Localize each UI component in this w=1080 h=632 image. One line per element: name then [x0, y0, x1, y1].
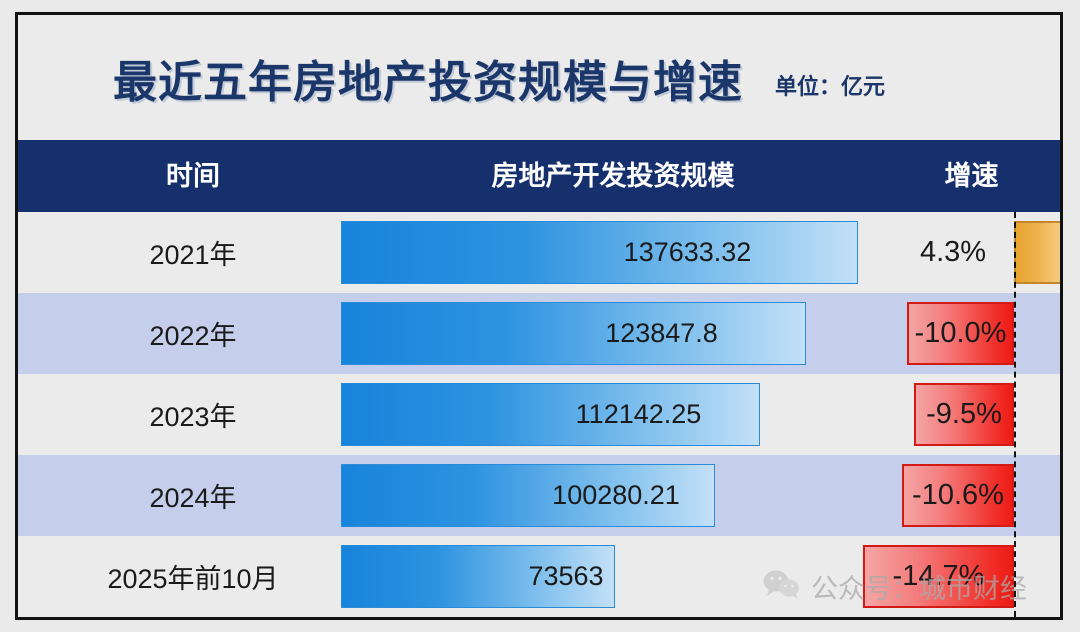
cell-time: 2022年 — [58, 293, 328, 374]
growth-value: 4.3% — [898, 212, 1008, 293]
growth-value: -10.6% — [912, 479, 1004, 512]
table-row: 2023年112142.25-9.5% — [18, 374, 1060, 455]
growth-bar-negative: -14.7% — [863, 545, 1014, 608]
scale-value: 137633.32 — [624, 237, 752, 268]
title-band: 最近五年房地产投资规模与增速 单位：亿元 — [18, 15, 1060, 140]
growth-bar-negative: -9.5% — [914, 383, 1014, 446]
chart-frame: 最近五年房地产投资规模与增速 单位：亿元 时间 房地产开发投资规模 增速 202… — [15, 12, 1063, 620]
table-body: 2021年137633.324.3%2022年123847.8-10.0%202… — [18, 212, 1060, 617]
growth-bar-negative: -10.0% — [907, 302, 1014, 365]
scale-bar: 123847.8 — [341, 302, 806, 365]
scale-bar: 100280.21 — [341, 464, 715, 527]
growth-value: -14.7% — [893, 560, 985, 593]
table-row: 2021年137633.324.3% — [18, 212, 1060, 293]
column-header-scale: 房地产开发投资规模 — [348, 140, 878, 212]
cell-time: 2023年 — [58, 374, 328, 455]
growth-value: -9.5% — [926, 398, 1002, 431]
column-header-time: 时间 — [78, 140, 308, 212]
scale-bar: 73563 — [341, 545, 615, 608]
growth-bar-negative: -10.6% — [902, 464, 1014, 527]
scale-value: 112142.25 — [576, 399, 702, 430]
scale-value: 123847.8 — [605, 318, 718, 349]
growth-value: -10.0% — [915, 317, 1007, 350]
scale-bar: 137633.32 — [341, 221, 858, 284]
cell-time: 2024年 — [58, 455, 328, 536]
table-header-row: 时间 房地产开发投资规模 增速 — [18, 140, 1060, 212]
table-row: 2025年前10月73563-14.7% — [18, 536, 1060, 617]
scale-bar: 112142.25 — [341, 383, 760, 446]
cell-time: 2025年前10月 — [58, 536, 328, 617]
unit-label: 单位：亿元 — [775, 69, 885, 101]
scale-value: 100280.21 — [552, 480, 680, 511]
scale-value: 73563 — [528, 561, 603, 592]
cell-time: 2021年 — [58, 212, 328, 293]
growth-bar-positive — [1014, 221, 1063, 284]
infographic-root: 最近五年房地产投资规模与增速 单位：亿元 时间 房地产开发投资规模 增速 202… — [0, 0, 1080, 632]
table-row: 2022年123847.8-10.0% — [18, 293, 1060, 374]
page-title: 最近五年房地产投资规模与增速 — [113, 46, 743, 110]
table-row: 2024年100280.21-10.6% — [18, 455, 1060, 536]
zero-axis-line — [1014, 212, 1016, 617]
column-header-growth: 增速 — [880, 140, 1063, 212]
